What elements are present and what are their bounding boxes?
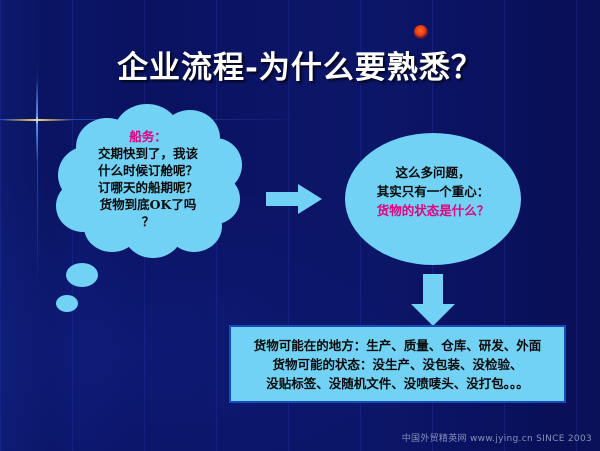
thought-line-3: 订哪天的船期呢？: [62, 179, 234, 196]
info-box: 货物可能在的地方：生产、质量、仓库、研发、外面 货物可能的状态：没生产、没包装、…: [229, 325, 566, 403]
answer-line-2: 其实只有一个重心：: [345, 182, 521, 201]
down-arrow-shaft: [423, 274, 443, 306]
page-title: 企业流程-为什么要熟悉？: [0, 42, 600, 87]
footer-url: www.jying.cn: [470, 434, 533, 444]
slide-canvas: 企业流程-为什么要熟悉？ 船务： 交期快到了，我该 什么时候订舱呢？ 订哪天的船…: [0, 0, 600, 451]
thought-cloud-text: 船务： 交期快到了，我该 什么时候订舱呢？ 订哪天的船期呢？ 货物到底OK了吗 …: [62, 128, 234, 230]
answer-line-1: 这么多问题，: [345, 163, 521, 182]
right-arrow-shaft: [266, 192, 300, 206]
footer-since: SINCE 2003: [536, 434, 592, 444]
down-arrow-head: [411, 304, 455, 326]
info-line-3: 没贴标签、没随机文件、没喷唛头、没打包。。。: [235, 374, 560, 393]
down-arrow: [411, 274, 455, 326]
thought-role-label: 船务：: [62, 128, 234, 145]
red-dot-decoration: [414, 25, 428, 39]
answer-highlight-line: 货物的状态是什么？: [345, 201, 521, 220]
answer-ellipse-text: 这么多问题， 其实只有一个重心： 货物的状态是什么？: [345, 163, 521, 220]
thought-line-2: 什么时候订舱呢？: [62, 162, 234, 179]
thought-puff-small: [56, 295, 78, 312]
info-box-text: 货物可能在的地方：生产、质量、仓库、研发、外面 货物可能的状态：没生产、没包装、…: [231, 336, 564, 393]
thought-line-1: 交期快到了，我该: [62, 145, 234, 162]
info-line-1: 货物可能在的地方：生产、质量、仓库、研发、外面: [235, 336, 560, 355]
thought-puff-large: [66, 263, 98, 287]
footer-watermark: 中国外贸精英网 www.jying.cn SINCE 2003: [402, 431, 592, 444]
info-line-2: 货物可能的状态：没生产、没包装、没检验、: [235, 355, 560, 374]
thought-line-4: 货物到底OK了吗: [62, 196, 234, 213]
right-arrow-head: [298, 184, 322, 214]
thought-line-5: ？: [62, 213, 234, 230]
right-arrow: [266, 184, 322, 214]
footer-site-name: 中国外贸精英网: [402, 434, 467, 444]
